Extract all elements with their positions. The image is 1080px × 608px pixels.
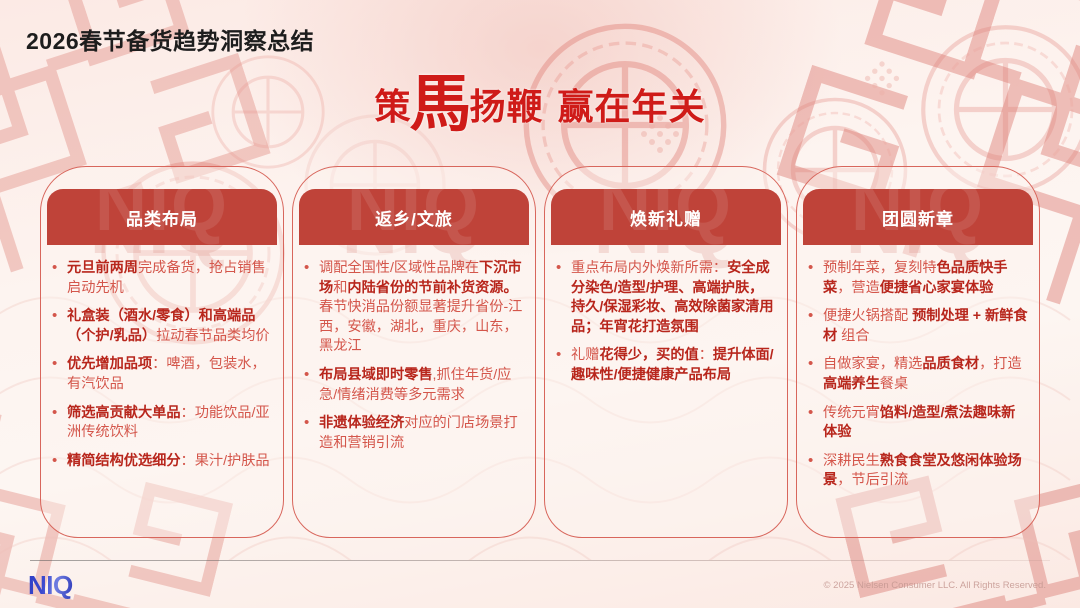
insight-card[interactable]: NIQNIQ品类布局元旦前两周完成备货，抢占销售启动先机礼盒装（酒水/零食）和高… xyxy=(40,166,284,538)
bullet-text: 预制年菜，复刻特 xyxy=(823,260,937,276)
bullet-emphasis: 非遗体验经济 xyxy=(319,415,404,431)
bullet-item: 精简结构优选细分：果汁/护肤品 xyxy=(49,452,273,472)
bullet-item: 布局县域即时零售,抓住年货/应急/情绪消费等多元需求 xyxy=(301,366,525,405)
footer-divider xyxy=(30,560,1050,561)
bullet-item: 传统元宵馅料/造型/煮法趣味新体验 xyxy=(805,404,1029,443)
bullet-item: 优先增加品项：啤酒，包装水，有汽饮品 xyxy=(49,355,273,394)
bullet-emphasis: 县域即时零售 xyxy=(347,367,432,383)
bullet-emphasis: 便捷省心家宴体验 xyxy=(880,280,994,296)
card-body: 调配全国性/区域性品牌在下沉市场和内陆省份的节前补货资源。春节快消品份额显著提升… xyxy=(293,245,535,472)
bullet-emphasis: 布局 xyxy=(319,367,347,383)
bullet-text: 组合 xyxy=(837,328,869,344)
card-header-title: 焕新礼赠 xyxy=(630,205,702,230)
bullet-item: 筛选高贡献大单品：功能饮品/亚洲传统饮料 xyxy=(49,404,273,443)
hero-pre: 策 xyxy=(374,86,411,127)
card-header: NIQ返乡/文旅 xyxy=(299,189,529,245)
insight-card[interactable]: NIQNIQ团圆新章预制年菜，复刻特色品质快手菜，营造便捷省心家宴体验便捷火锅搭… xyxy=(796,166,1040,538)
bullet-list: 调配全国性/区域性品牌在下沉市场和内陆省份的节前补货资源。春节快消品份额显著提升… xyxy=(301,259,525,453)
bullet-text: 和 xyxy=(333,280,347,296)
bullet-emphasis: 花得少，买的值 xyxy=(599,347,698,363)
bullet-emphasis: 年宵花打造氛围 xyxy=(599,319,698,335)
card-header-title: 团圆新章 xyxy=(882,205,954,230)
hero-big-char: 馬 xyxy=(409,70,471,139)
bullet-text: 传统元宵 xyxy=(823,405,880,421)
card-body: 重点布局内外焕新所需：安全成分染色/造型/护理、高端护肤，持久/保湿彩妆、高效除… xyxy=(545,245,787,405)
hero-mid: 扬鞭 xyxy=(470,86,544,127)
slide-canvas: 2026春节备货趋势洞察总结 策馬扬鞭赢在年关 NIQNIQ品类布局元旦前两周完… xyxy=(0,0,1080,608)
bullet-text: 礼赠 xyxy=(571,347,599,363)
bullet-text: ，节后引流 xyxy=(837,472,908,488)
insight-card[interactable]: NIQNIQ返乡/文旅调配全国性/区域性品牌在下沉市场和内陆省份的节前补货资源。… xyxy=(292,166,536,538)
bullet-item: 重点布局内外焕新所需：安全成分染色/造型/护理、高端护肤，持久/保湿彩妆、高效除… xyxy=(553,259,777,337)
bullet-item: 礼赠花得少，买的值：提升体面/趣味性/便捷健康产品布局 xyxy=(553,346,777,385)
bullet-text: 春节快消品份额显著提升省份-江西，安徽，湖北，重庆，山东，黑龙江 xyxy=(319,299,522,354)
card-body: 元旦前两周完成备货，抢占销售启动先机礼盒装（酒水/零食）和高端品（个护/乳品）拉… xyxy=(41,245,283,490)
bullet-text: 餐桌 xyxy=(880,376,908,392)
bullet-text: 重点布局内外焕新所需： xyxy=(571,260,727,276)
bullet-item: 元旦前两周完成备货，抢占销售启动先机 xyxy=(49,259,273,298)
card-header-title: 返乡/文旅 xyxy=(375,205,453,230)
copyright-text: © 2025 Nielsen Consumer LLC. All Rights … xyxy=(824,580,1046,591)
bullet-list: 元旦前两周完成备货，抢占销售启动先机礼盒装（酒水/零食）和高端品（个护/乳品）拉… xyxy=(49,259,273,471)
bullet-item: 调配全国性/区域性品牌在下沉市场和内陆省份的节前补货资源。春节快消品份额显著提升… xyxy=(301,259,525,357)
bullet-item: 非遗体验经济对应的门店场景打造和营销引流 xyxy=(301,414,525,453)
niq-logo: NIQ xyxy=(28,570,73,601)
bullet-emphasis: 优先增加品项 xyxy=(67,356,152,372)
bullet-text: 拉动春节品类均价 xyxy=(156,328,270,344)
bullet-item: 深耕民生熟食食堂及悠闲体验场景，节后引流 xyxy=(805,452,1029,491)
bullet-text: ，打造 xyxy=(979,356,1022,372)
card-header: NIQ团圆新章 xyxy=(803,189,1033,245)
bullet-text: ： xyxy=(699,347,713,363)
insight-cards-row: NIQNIQ品类布局元旦前两周完成备货，抢占销售启动先机礼盒装（酒水/零食）和高… xyxy=(40,166,1040,538)
card-body: 预制年菜，复刻特色品质快手菜，营造便捷省心家宴体验便捷火锅搭配 预制处理 + 新… xyxy=(797,245,1039,510)
bullet-emphasis: 筛选高贡献大单品 xyxy=(67,405,181,421)
bullet-text: ：果汁/护肤品 xyxy=(181,453,270,469)
bullet-text: 便捷火锅搭配 xyxy=(823,308,912,324)
bullet-emphasis: 内陆省份的节前补货资源。 xyxy=(347,280,517,296)
bullet-emphasis: 元旦前两周 xyxy=(67,260,138,276)
bullet-item: 预制年菜，复刻特色品质快手菜，营造便捷省心家宴体验 xyxy=(805,259,1029,298)
bullet-text: 自做家宴，精选 xyxy=(823,356,922,372)
hero-headline: 策馬扬鞭赢在年关 xyxy=(0,78,1080,130)
page-title: 2026春节备货趋势洞察总结 xyxy=(26,22,314,56)
bullet-text: 调配全国性/区域性品牌在 xyxy=(319,260,479,276)
bullet-list: 重点布局内外焕新所需：安全成分染色/造型/护理、高端护肤，持久/保湿彩妆、高效除… xyxy=(553,259,777,386)
bullet-item: 自做家宴，精选品质食材，打造高端养生餐桌 xyxy=(805,355,1029,394)
bullet-emphasis: 品质食材 xyxy=(922,356,979,372)
card-header: NIQ焕新礼赠 xyxy=(551,189,781,245)
card-header: NIQ品类布局 xyxy=(47,189,277,245)
bullet-text: 深耕民生 xyxy=(823,453,880,469)
bullet-emphasis: 高端养生 xyxy=(823,376,880,392)
hero-post: 赢在年关 xyxy=(558,86,706,127)
bullet-text: ，营造 xyxy=(837,280,880,296)
bullet-item: 礼盒装（酒水/零食）和高端品（个护/乳品）拉动春节品类均价 xyxy=(49,307,273,346)
bullet-list: 预制年菜，复刻特色品质快手菜，营造便捷省心家宴体验便捷火锅搭配 预制处理 + 新… xyxy=(805,259,1029,491)
insight-card[interactable]: NIQNIQ焕新礼赠重点布局内外焕新所需：安全成分染色/造型/护理、高端护肤，持… xyxy=(544,166,788,538)
bullet-emphasis: 精简结构优选细分 xyxy=(67,453,181,469)
card-header-title: 品类布局 xyxy=(126,205,198,230)
bullet-item: 便捷火锅搭配 预制处理 + 新鲜食材 组合 xyxy=(805,307,1029,346)
